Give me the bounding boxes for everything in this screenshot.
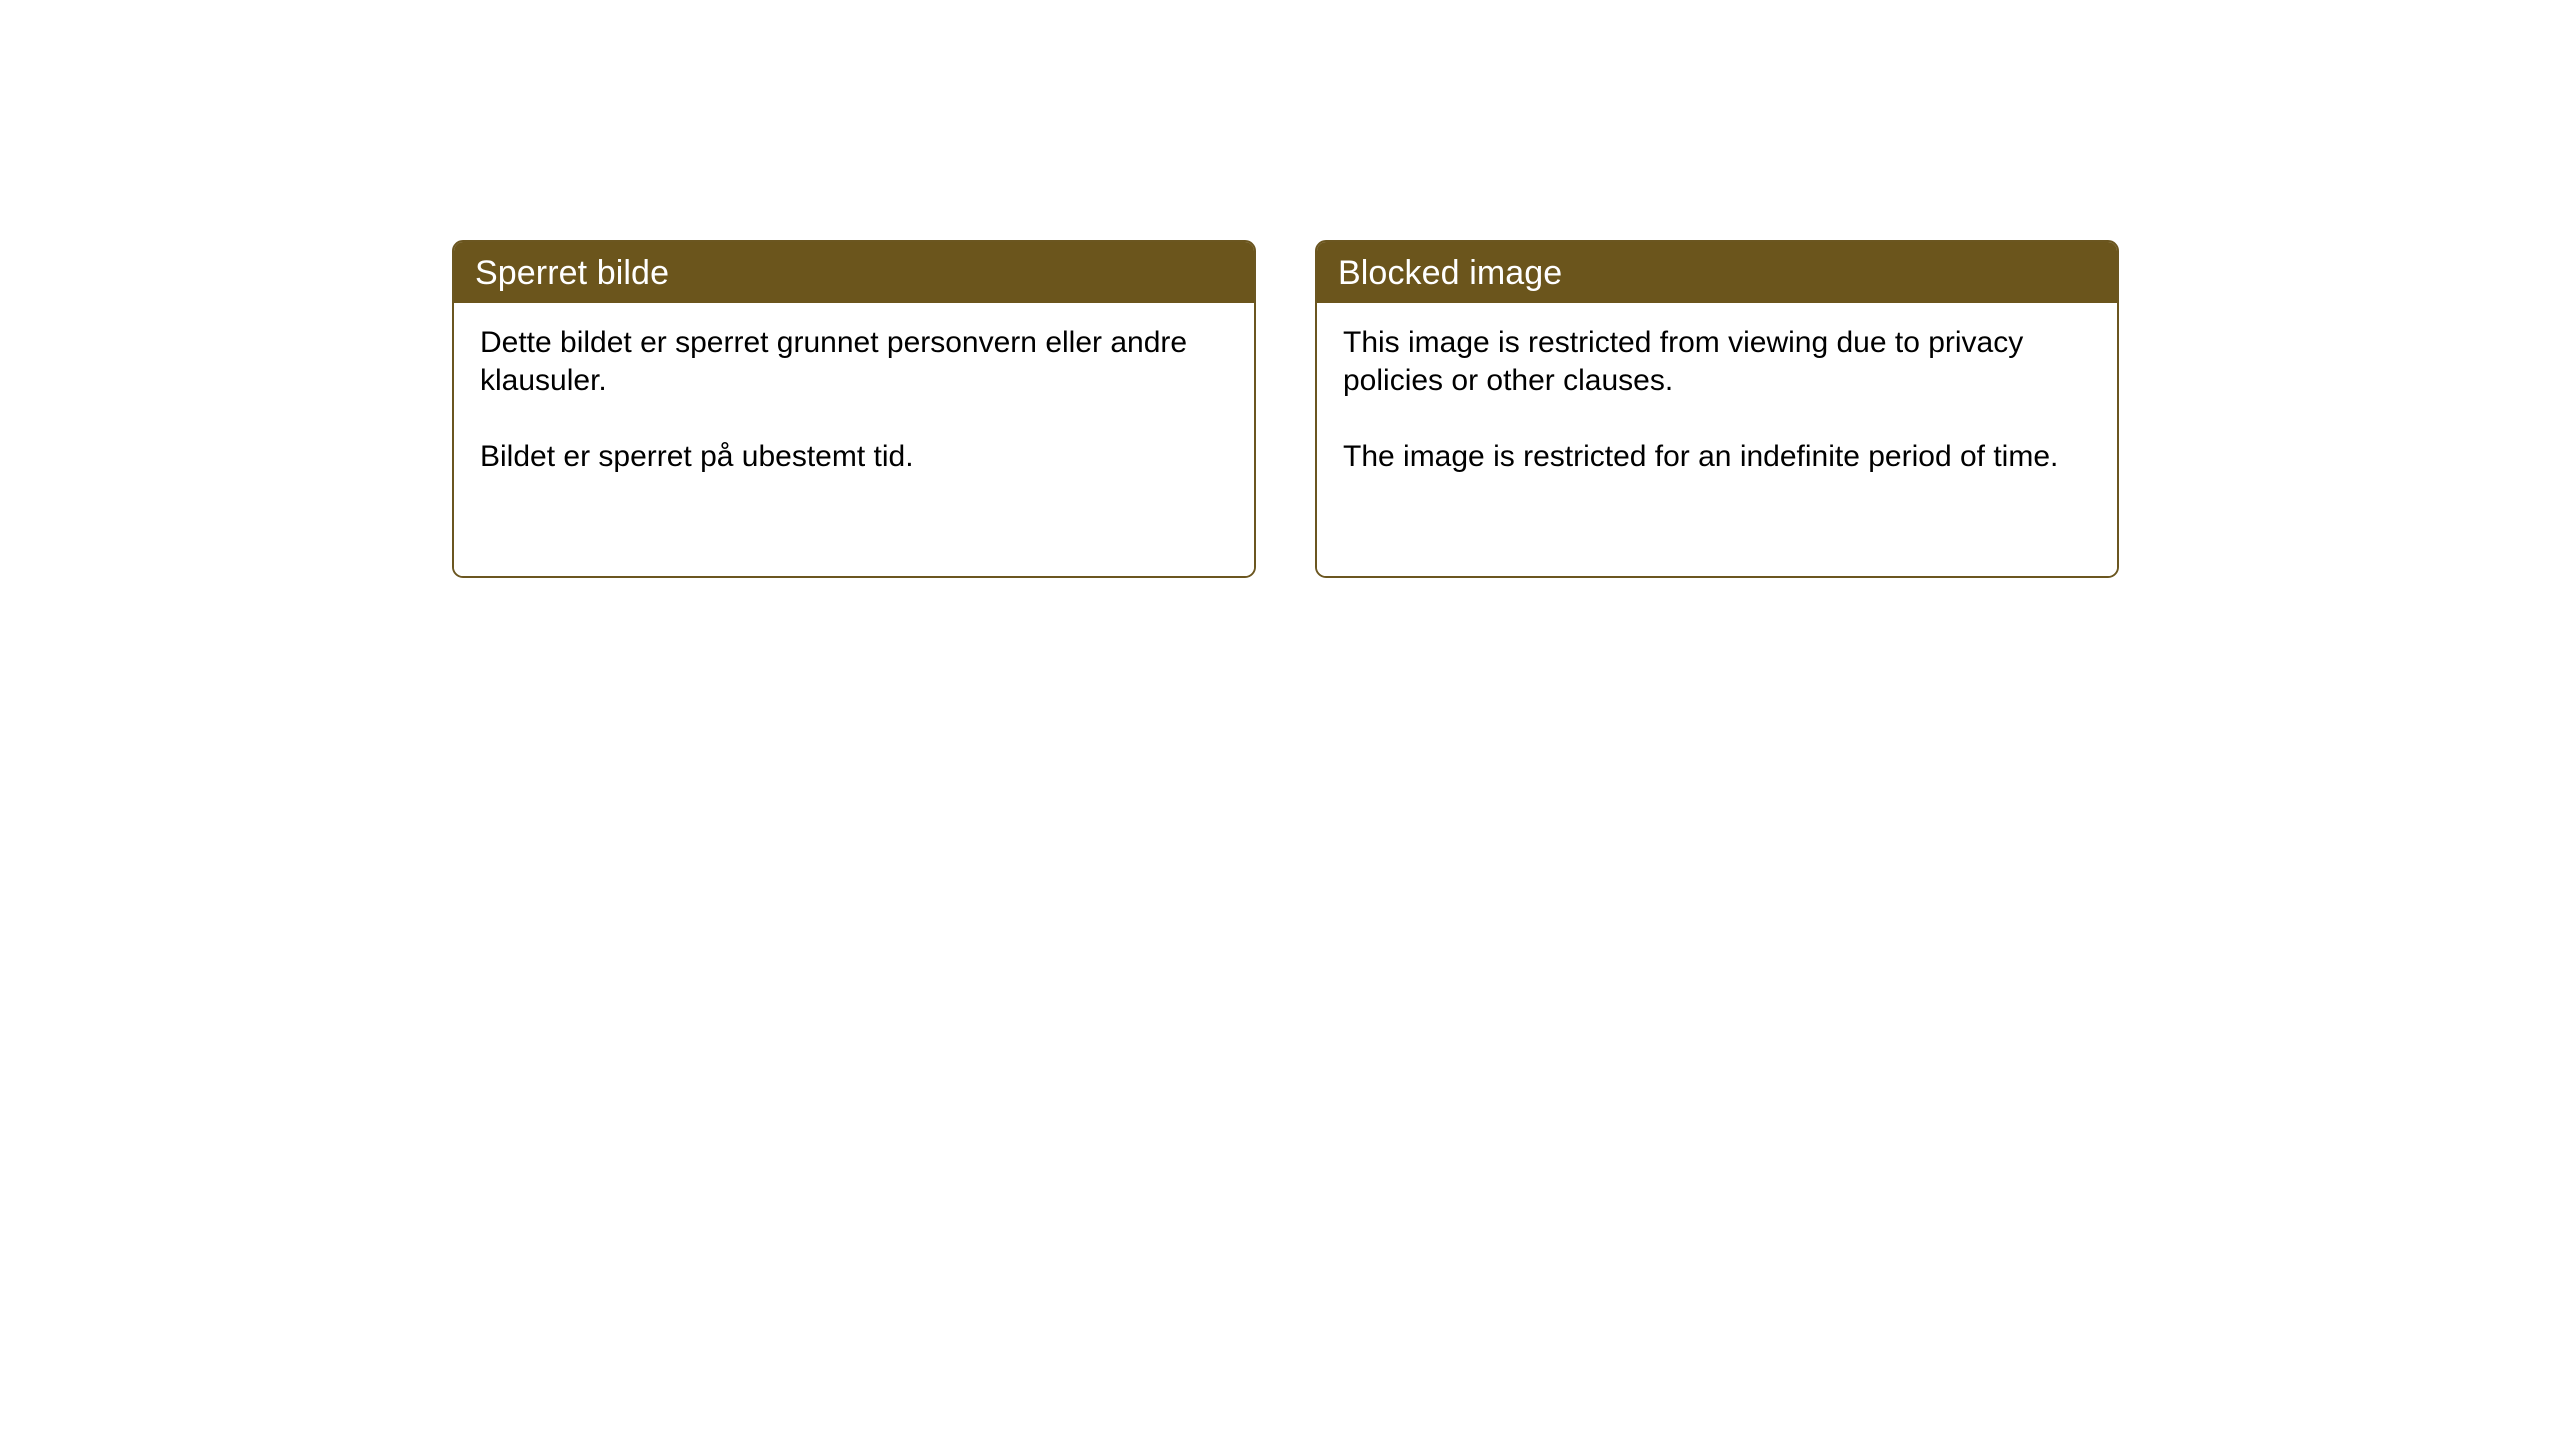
card-paragraph-secondary-english: The image is restricted for an indefinit… bbox=[1343, 438, 2093, 476]
card-paragraph-primary-english: This image is restricted from viewing du… bbox=[1343, 324, 2093, 400]
card-body-norwegian: Dette bildet er sperret grunnet personve… bbox=[454, 303, 1254, 576]
card-title-english: Blocked image bbox=[1338, 253, 1562, 293]
card-paragraph-secondary-norwegian: Bildet er sperret på ubestemt tid. bbox=[480, 438, 1230, 476]
card-header-norwegian: Sperret bilde bbox=[454, 242, 1254, 303]
blocked-image-card-norwegian: Sperret bilde Dette bildet er sperret gr… bbox=[452, 240, 1256, 578]
card-body-english: This image is restricted from viewing du… bbox=[1317, 303, 2117, 576]
blocked-image-notice-group: Sperret bilde Dette bildet er sperret gr… bbox=[452, 240, 2119, 578]
card-paragraph-primary-norwegian: Dette bildet er sperret grunnet personve… bbox=[480, 324, 1230, 400]
card-header-english: Blocked image bbox=[1317, 242, 2117, 303]
card-title-norwegian: Sperret bilde bbox=[475, 253, 669, 293]
blocked-image-card-english: Blocked image This image is restricted f… bbox=[1315, 240, 2119, 578]
